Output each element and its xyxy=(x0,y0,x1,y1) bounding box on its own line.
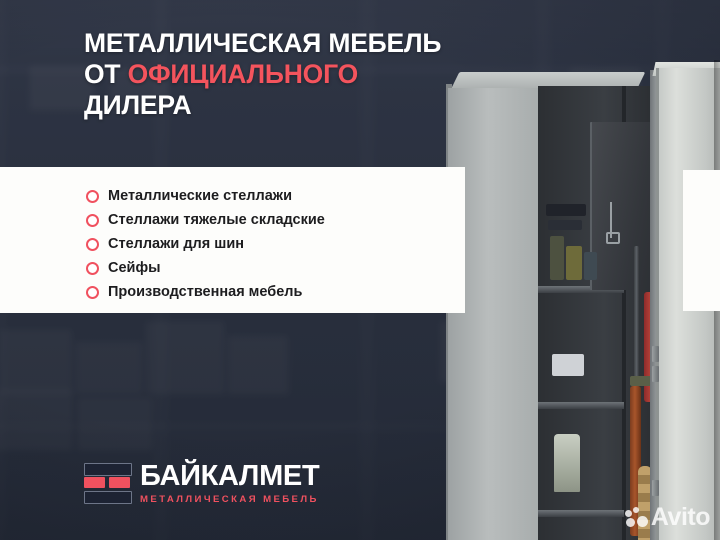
bullet-icon xyxy=(86,286,99,299)
safe-interior xyxy=(538,86,658,540)
avito-watermark: Avito xyxy=(625,505,710,530)
avito-dots-icon xyxy=(625,507,648,528)
safe-door-hinge xyxy=(652,366,659,382)
features-panel-right-strip xyxy=(683,170,720,311)
safe-keys xyxy=(610,202,612,238)
bullet-icon xyxy=(86,214,99,227)
brand-logo-text: БАЙКАЛМЕТ МЕТАЛЛИЧЕСКАЯ МЕБЕЛЬ xyxy=(140,462,319,505)
stacked-bars-logo-icon xyxy=(84,463,130,503)
feature-label: Стеллажи для шин xyxy=(108,237,244,252)
safe-shelf xyxy=(538,402,624,409)
safe-left-side xyxy=(448,88,538,540)
safe-item-can xyxy=(550,236,564,280)
safe-item-cable xyxy=(548,220,582,230)
avito-label: Avito xyxy=(651,505,710,530)
list-item: Металлические стеллажи xyxy=(86,186,456,207)
headline-line-2: ОТ ОФИЦИАЛЬНОГО xyxy=(84,59,514,90)
list-item: Стеллажи тяжелые складские xyxy=(86,210,456,231)
headline-line-2-accent: ОФИЦИАЛЬНОГО xyxy=(128,59,358,89)
headline-line-1: МЕТАЛЛИЧЕСКАЯ МЕБЕЛЬ xyxy=(84,28,514,59)
brand-logo: БАЙКАЛМЕТ МЕТАЛЛИЧЕСКАЯ МЕБЕЛЬ xyxy=(84,462,319,505)
safe-item-box xyxy=(566,246,582,280)
safe-item-bottle xyxy=(554,434,580,492)
list-item: Производственная мебель xyxy=(86,282,456,303)
feature-label: Металлические стеллажи xyxy=(108,189,292,204)
promo-banner: МЕТАЛЛИЧЕСКАЯ МЕБЕЛЬ ОТ ОФИЦИАЛЬНОГО ДИЛ… xyxy=(0,0,720,540)
safe-door-hinge xyxy=(652,346,659,362)
brand-name: БАЙКАЛМЕТ xyxy=(140,462,319,491)
safe-inner-door xyxy=(590,122,658,290)
headline-line-3: ДИЛЕРА xyxy=(84,90,514,121)
bullet-icon xyxy=(86,238,99,251)
list-item: Стеллажи для шин xyxy=(86,234,456,255)
safe-door-hinge xyxy=(652,480,659,496)
safe-shelf xyxy=(538,510,624,517)
brand-tagline: МЕТАЛЛИЧЕСКАЯ МЕБЕЛЬ xyxy=(140,495,319,505)
feature-list: Металлические стеллажи Стеллажи тяжелые … xyxy=(86,186,456,306)
feature-label: Сейфы xyxy=(108,261,161,276)
safe-item-carton xyxy=(552,354,584,376)
bullet-icon xyxy=(86,262,99,275)
list-item: Сейфы xyxy=(86,258,456,279)
safe-item-box xyxy=(584,252,597,280)
feature-label: Стеллажи тяжелые складские xyxy=(108,213,325,228)
gun-safe-photo xyxy=(446,60,720,540)
headline-line-2-prefix: ОТ xyxy=(84,59,128,89)
feature-label: Производственная мебель xyxy=(108,285,302,300)
page-title: МЕТАЛЛИЧЕСКАЯ МЕБЕЛЬ ОТ ОФИЦИАЛЬНОГО ДИЛ… xyxy=(84,28,514,121)
safe-item-cable xyxy=(546,204,586,216)
bullet-icon xyxy=(86,190,99,203)
